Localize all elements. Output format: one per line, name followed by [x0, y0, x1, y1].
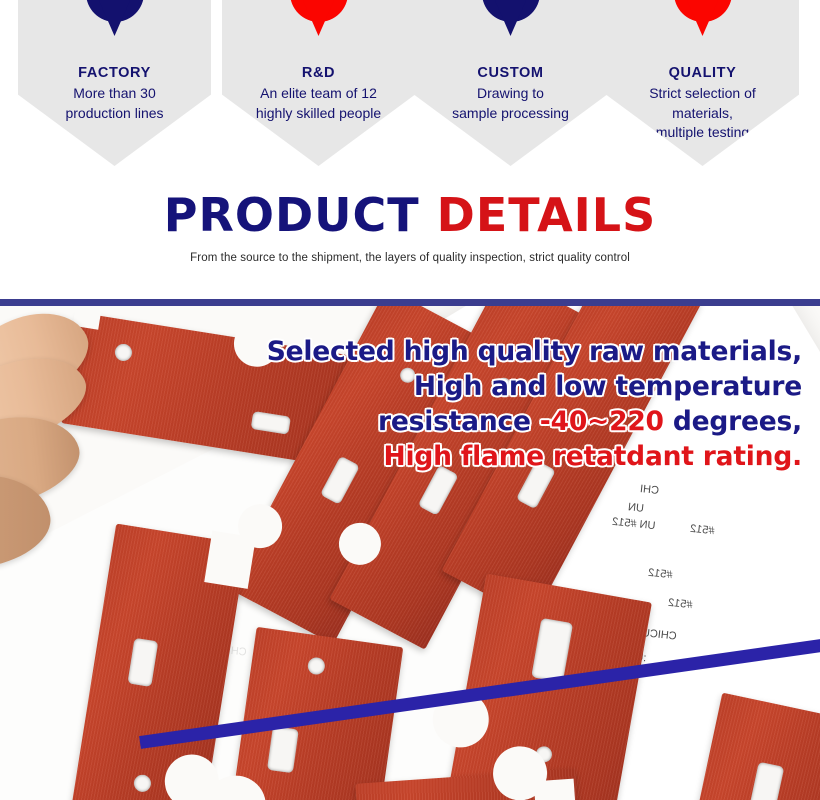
feature-card-title: CUSTOM [420, 64, 601, 83]
paper-mark: #512 [667, 597, 693, 611]
overlay-line-1: Selected high quality raw materials, [242, 334, 802, 369]
feature-card-desc-line: highly skilled people [228, 104, 409, 123]
feature-card-desc-line: Strict selection of [612, 84, 793, 103]
feature-card-desc-line: More than 30 [24, 84, 205, 103]
overlay-line-3-prefix: resistance [378, 406, 540, 437]
feature-card-desc-line: Drawing to [420, 84, 601, 103]
overlay-line-4: High flame retatdant rating. [242, 439, 802, 474]
feature-card-desc-line: sample processing [420, 104, 601, 123]
page-title-product: PRODUCT [164, 188, 420, 242]
feature-card-desc-line: multiple testing [612, 123, 793, 142]
overlay-line-2: High and low temperature [242, 369, 802, 404]
page-title: PRODUCT DETAILS [0, 186, 820, 244]
feature-card-title: FACTORY [24, 64, 205, 83]
overlay-line-3: resistance -40~220 degrees, [242, 404, 802, 439]
paper-mark: #512 [689, 523, 715, 537]
section-heading: PRODUCT DETAILS From the source to the s… [0, 186, 820, 266]
feature-card-desc-line: materials, [612, 104, 793, 123]
map-pin-icon [290, 0, 348, 36]
paper-mark: UN [627, 501, 644, 515]
page-title-details: DETAILS [437, 188, 657, 242]
feature-card-title: QUALITY [612, 64, 793, 83]
section-subtitle: From the source to the shipment, the lay… [0, 250, 820, 266]
feature-cards-strip: FACTORY More than 30 production lines R&… [0, 0, 820, 185]
overlay-temperature-range: -40~220 [540, 406, 664, 437]
feature-card-custom[interactable]: CUSTOM Drawing to sample processing [414, 0, 607, 166]
map-pin-icon [482, 0, 540, 36]
feature-card-desc-line: production lines [24, 104, 205, 123]
photo-overlay-text: Selected high quality raw materials, Hig… [242, 334, 802, 474]
feature-card-quality[interactable]: QUALITY Strict selection of materials, m… [606, 0, 799, 166]
feature-card-title: R&D [228, 64, 409, 83]
paper-mark: #512 [647, 567, 673, 581]
paper-mark: CHI [639, 483, 659, 497]
feature-card-body: FACTORY More than 30 production lines [18, 64, 211, 122]
overlay-line-3-suffix: degrees, [664, 406, 802, 437]
map-pin-icon [86, 0, 144, 36]
feature-card-body: R&D An elite team of 12 highly skilled p… [222, 64, 415, 122]
feature-card-body: CUSTOM Drawing to sample processing [414, 64, 607, 122]
feature-card-body: QUALITY Strict selection of materials, m… [606, 64, 799, 142]
hand-holding-part [0, 324, 145, 579]
product-photo-panel: CHI UN UN #512 #512 #512 #512 CHICUUN :U… [0, 299, 820, 800]
map-pin-icon [674, 0, 732, 36]
feature-card-desc-line: An elite team of 12 [228, 84, 409, 103]
feature-card-factory[interactable]: FACTORY More than 30 production lines [18, 0, 211, 166]
product-photo-image: CHI UN UN #512 #512 #512 #512 CHICUUN :U… [0, 306, 820, 800]
feature-card-rd[interactable]: R&D An elite team of 12 highly skilled p… [222, 0, 415, 166]
